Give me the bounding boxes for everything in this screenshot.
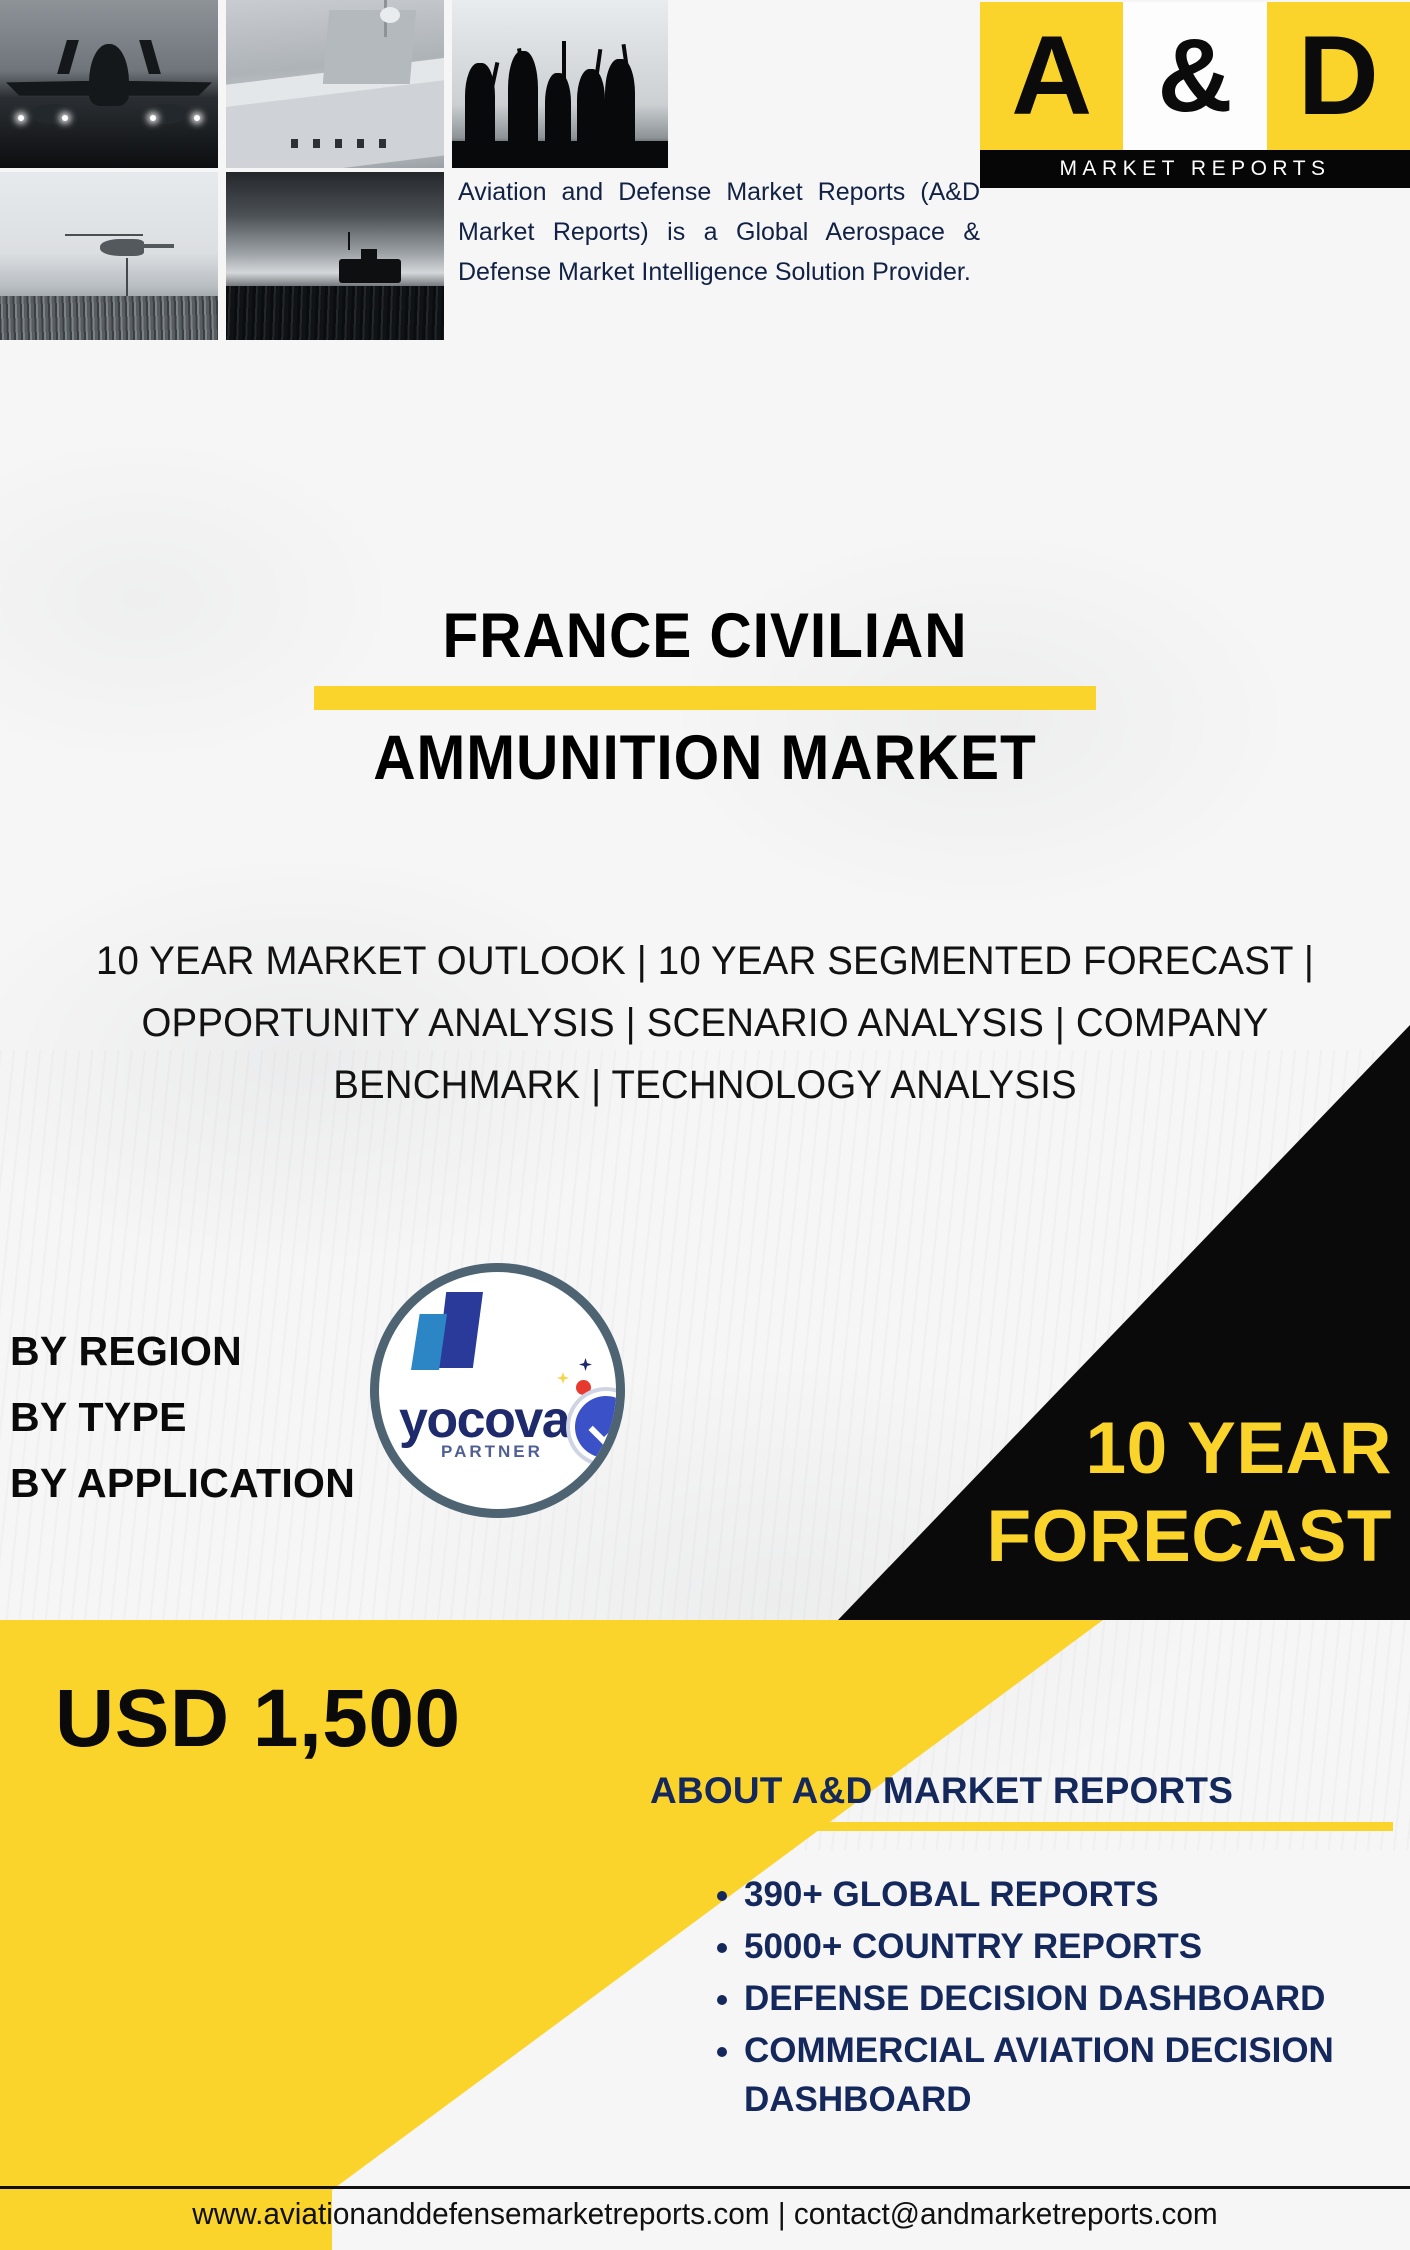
sparkle-icon: [557, 1372, 569, 1384]
yocova-partner-badge[interactable]: yocova PARTNER: [370, 1263, 625, 1518]
about-heading: ABOUT A&D MARKET REPORTS: [650, 1770, 1390, 1812]
logo-letter-ampersand: &: [1157, 24, 1232, 128]
footer-divider: [0, 2186, 1410, 2189]
deck-light: [62, 115, 68, 121]
ship-porthole: [313, 139, 320, 148]
jet-wing-right: [117, 81, 212, 96]
segmentation-item-type: BY TYPE: [10, 1384, 355, 1450]
segmentation-item-region: BY REGION: [10, 1318, 355, 1384]
forecast-badge: 10 YEAR FORECAST: [732, 1405, 1392, 1581]
ship-porthole: [379, 139, 386, 148]
jet-tail-right: [139, 40, 161, 74]
ship-porthole: [291, 139, 298, 148]
antenna: [348, 232, 350, 250]
brand-logo[interactable]: A & D MARKET REPORTS: [980, 2, 1410, 188]
photo-aircraft-carrier: [226, 0, 444, 168]
report-title: FRANCE CIVILIAN AMMUNITION MARKET: [0, 600, 1410, 794]
poster-page: A & D MARKET REPORTS Aviation and Defens…: [0, 0, 1410, 2250]
vehicle-hull: [339, 259, 401, 283]
jet-pod-right: [142, 104, 188, 124]
jet-fuselage: [89, 44, 129, 106]
logo-letter-a: A: [1011, 20, 1092, 132]
intro-paragraph: Aviation and Defense Market Reports (A&D…: [458, 172, 980, 292]
ground-foreground: [226, 286, 444, 340]
helicopter-rotor: [65, 234, 143, 236]
photo-soldiers-silhouette: [452, 0, 668, 168]
photo-military-helicopter: [0, 172, 218, 340]
ship-radar-dome: [380, 7, 400, 23]
jet-pod-left: [30, 104, 76, 124]
about-bullet-list: 390+ GLOBAL REPORTS 5000+ COUNTRY REPORT…: [700, 1870, 1410, 2127]
field-foreground: [0, 296, 218, 340]
logo-letter-row: A & D: [980, 2, 1410, 150]
jet-tail-left: [57, 40, 79, 74]
deck-light: [194, 115, 200, 121]
list-item: DEFENSE DECISION DASHBOARD: [744, 1974, 1410, 2023]
logo-banner: MARKET REPORTS: [980, 150, 1410, 188]
rifle-silhouette: [562, 41, 566, 101]
logo-banner-text: MARKET REPORTS: [1059, 157, 1330, 181]
sparkle-icon: [579, 1358, 592, 1371]
deck-light: [150, 115, 156, 121]
photo-armored-vehicle: [226, 172, 444, 340]
photo-fighter-jet-on-carrier-deck: [0, 0, 218, 168]
report-title-line-1: FRANCE CIVILIAN: [49, 600, 1360, 672]
fast-rope: [126, 258, 128, 296]
soldier-silhouette: [465, 63, 495, 155]
footer-contact[interactable]: www.aviationanddefensemarketreports.com …: [28, 2196, 1382, 2232]
deck-light: [18, 115, 24, 121]
yocova-partner-label: PARTNER: [441, 1442, 601, 1462]
checkmark-icon: [588, 1404, 625, 1445]
ship-porthole: [357, 139, 364, 148]
forecast-badge-line-2: FORECAST: [732, 1493, 1392, 1581]
report-subtitle: 10 YEAR MARKET OUTLOOK | 10 YEAR SEGMENT…: [57, 930, 1353, 1116]
logo-cell-ampersand: &: [1123, 2, 1266, 150]
forecast-badge-line-1: 10 YEAR: [732, 1405, 1392, 1493]
soldier-silhouette: [545, 73, 571, 155]
ship-porthole: [335, 139, 342, 148]
logo-letter-d: D: [1298, 20, 1379, 132]
logo-cell-a: A: [980, 2, 1123, 150]
ship-tower: [323, 10, 417, 84]
list-item: 390+ GLOBAL REPORTS: [744, 1870, 1410, 1919]
helicopter-tail-boom: [140, 244, 174, 248]
title-accent-rule: [314, 686, 1096, 710]
list-item: COMMERCIAL AVIATION DECISION DASHBOARD: [744, 2026, 1410, 2124]
segmentation-list: BY REGION BY TYPE BY APPLICATION: [10, 1318, 355, 1516]
report-title-line-2: AMMUNITION MARKET: [49, 722, 1360, 794]
red-dot-icon: [576, 1380, 591, 1395]
price-value: USD 1,500: [55, 1672, 461, 1766]
list-item: 5000+ COUNTRY REPORTS: [744, 1922, 1410, 1971]
segmentation-item-application: BY APPLICATION: [10, 1450, 355, 1516]
jet-wing-left: [6, 81, 101, 96]
about-accent-rule: [655, 1822, 1393, 1831]
soldier-silhouette: [605, 59, 635, 155]
logo-cell-d: D: [1267, 2, 1410, 150]
yocova-wordmark: yocova: [399, 1394, 579, 1446]
helicopter-fuselage: [100, 239, 144, 256]
soldier-silhouette: [577, 69, 605, 155]
